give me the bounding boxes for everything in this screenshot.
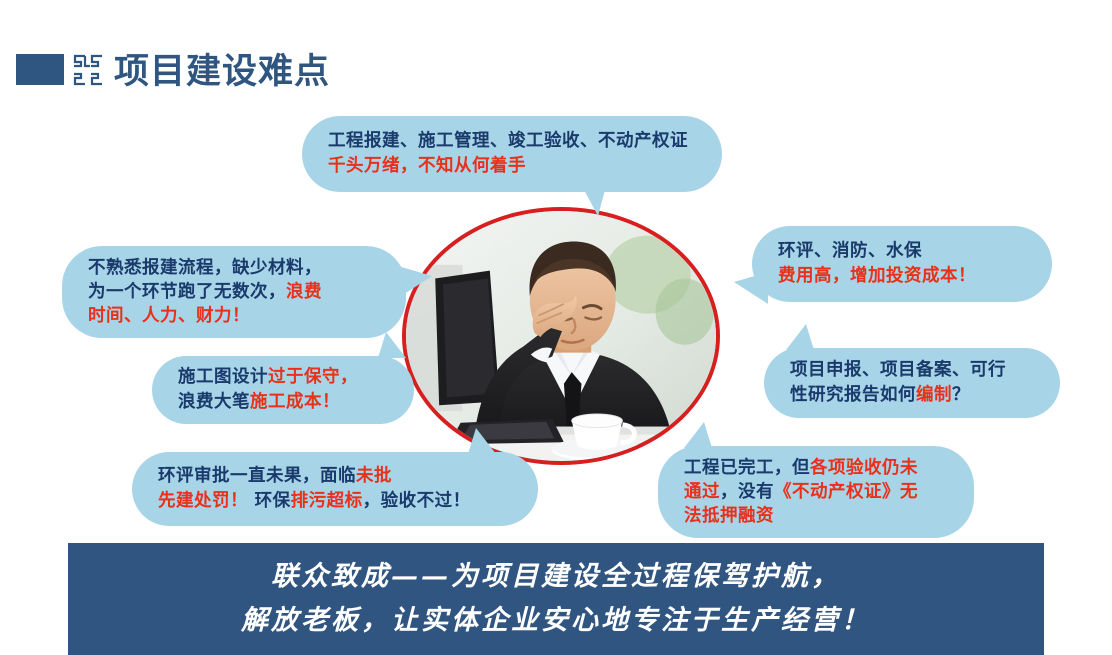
bubble-text-segment: 工程报建、施工管理、竣工验收、不动产权证 bbox=[328, 131, 688, 151]
bubble-text-line: 先建处罚！ 环保排污超标，验收不过！ bbox=[158, 489, 512, 514]
bubble-text-segment: 时间、人力、财力！ bbox=[88, 306, 250, 326]
bubble-text-segment: 编制 bbox=[916, 385, 952, 405]
bubble-text: 工程报建、施工管理、竣工验收、不动产权证千头万绪，不知从何着手 bbox=[302, 129, 722, 179]
speech-bubble-top: 工程报建、施工管理、竣工验收、不动产权证千头万绪，不知从何着手 bbox=[302, 116, 722, 192]
speech-bubble-lower-left: 环评审批一直未果，面临未批先建处罚！ 环保排污超标，验收不过！ bbox=[132, 452, 538, 526]
bubble-text-segment: ，验收不过！ bbox=[363, 491, 471, 511]
page-title: 项目建设难点 bbox=[114, 44, 330, 100]
bubble-text-line: 不熟悉报建流程，缺少材料， bbox=[88, 256, 380, 280]
speech-bubble-upper-right: 环评、消防、水保费用高，增加投资成本！ bbox=[752, 226, 1052, 302]
bubble-text: 环评审批一直未果，面临未批先建处罚！ 环保排污超标，验收不过！ bbox=[132, 464, 538, 514]
bubble-text-line: 通过，没有《不动产权证》无 bbox=[684, 480, 948, 504]
speech-bubble-mid-right: 项目申报、项目备案、可行性研究报告如何编制？ bbox=[764, 348, 1060, 418]
banner-line-1: 联众致成——为项目建设全过程保驾护航， bbox=[271, 555, 841, 599]
businessman-photo bbox=[402, 207, 720, 465]
bubble-text-segment: 千头万绪，不知从何着手 bbox=[328, 156, 526, 176]
speech-bubble-lower-right: 工程已完工，但各项验收仍未通过，没有《不动产权证》无法抵押融资 bbox=[658, 446, 974, 538]
bubble-text: 环评、消防、水保费用高，增加投资成本！ bbox=[752, 239, 1052, 289]
bubble-text-line: 环评审批一直未果，面临未批 bbox=[158, 464, 512, 489]
bubble-text-segment: 排污超标 bbox=[291, 491, 363, 511]
page-header: 项目建设难点 bbox=[0, 44, 1112, 100]
bubble-text-segment: 施工图设计 bbox=[178, 367, 268, 387]
bubble-text-line: 为一个环节跑了无数次，浪费 bbox=[88, 280, 380, 304]
bubble-text-segment: 工程已完工，但 bbox=[684, 458, 810, 478]
bubble-text-segment: 性研究报告如何 bbox=[790, 385, 916, 405]
bubble-tail-icon bbox=[398, 266, 432, 298]
chinese-meander-pattern-icon bbox=[70, 52, 106, 88]
bubble-text-segment: 不熟悉报建流程，缺少材料， bbox=[88, 258, 322, 278]
bubble-text-segment: 各项验收仍未 bbox=[810, 458, 918, 478]
bubble-text-segment: 过于保守， bbox=[268, 367, 358, 387]
bubble-text-segment: 施工成本！ bbox=[250, 392, 340, 412]
bubble-text-segment: 环保 bbox=[248, 491, 291, 511]
bubble-text-line: 工程报建、施工管理、竣工验收、不动产权证 bbox=[328, 129, 696, 154]
bubble-text-segment: 未批 bbox=[356, 466, 392, 486]
bubble-text: 工程已完工，但各项验收仍未通过，没有《不动产权证》无法抵押融资 bbox=[658, 456, 974, 528]
bubble-text-line: 工程已完工，但各项验收仍未 bbox=[684, 456, 948, 480]
bubble-tail-icon bbox=[468, 428, 496, 454]
bubble-text: 项目申报、项目备案、可行性研究报告如何编制？ bbox=[764, 358, 1060, 408]
bubble-text-segment: 浪费大笔 bbox=[178, 392, 250, 412]
bubble-text-segment: 为一个环节跑了无数次， bbox=[88, 282, 286, 302]
bubble-text-line: 浪费大笔施工成本！ bbox=[178, 390, 388, 415]
bubble-text-segment: 费用高，增加投资成本！ bbox=[778, 266, 976, 286]
bubble-tail-icon bbox=[378, 332, 406, 358]
bubble-tail-icon bbox=[786, 324, 814, 350]
bubble-text-segment: ，没有 bbox=[720, 482, 774, 502]
bubble-tail-icon bbox=[684, 422, 712, 448]
bottom-banner: 联众致成——为项目建设全过程保驾护航， 解放老板，让实体企业安心地专注于生产经营… bbox=[68, 543, 1044, 655]
bubble-text-line: 施工图设计过于保守， bbox=[178, 365, 388, 390]
bubble-text-line: 项目申报、项目备案、可行 bbox=[790, 358, 1034, 383]
header-accent-block bbox=[16, 54, 64, 85]
bubble-text-segment: 环评、消防、水保 bbox=[778, 241, 922, 261]
banner-line-2: 解放老板，让实体企业安心地专注于生产经营！ bbox=[241, 599, 871, 643]
bubble-text-segment: 法抵押融资 bbox=[684, 506, 774, 526]
bubble-text-segment: 浪费 bbox=[286, 282, 322, 302]
bubble-text-segment: 项目申报、项目备案、可行 bbox=[790, 360, 1006, 380]
bubble-text-segment: 环评审批一直未果，面临 bbox=[158, 466, 356, 486]
bubble-text-line: 性研究报告如何编制？ bbox=[790, 383, 1034, 408]
bubble-text-segment: ？ bbox=[952, 385, 970, 405]
speech-bubble-upper-left: 不熟悉报建流程，缺少材料，为一个环节跑了无数次，浪费时间、人力、财力！ bbox=[62, 246, 406, 338]
bubble-text-line: 千头万绪，不知从何着手 bbox=[328, 154, 696, 179]
speech-bubble-mid-left: 施工图设计过于保守，浪费大笔施工成本！ bbox=[152, 356, 414, 424]
bubble-text-segment: 《不动产权证》无 bbox=[774, 482, 918, 502]
bubble-text-line: 环评、消防、水保 bbox=[778, 239, 1026, 264]
bubble-text-segment: 先建处罚！ bbox=[158, 491, 248, 511]
bubble-tail-icon bbox=[582, 186, 606, 216]
bubble-text-line: 时间、人力、财力！ bbox=[88, 304, 380, 328]
bubble-text-line: 费用高，增加投资成本！ bbox=[778, 264, 1026, 289]
slide-root: 项目建设难点 bbox=[0, 0, 1112, 655]
bubble-text-segment: 通过 bbox=[684, 482, 720, 502]
bubble-text-line: 法抵押融资 bbox=[684, 504, 948, 528]
bubble-text: 不熟悉报建流程，缺少材料，为一个环节跑了无数次，浪费时间、人力、财力！ bbox=[62, 256, 406, 328]
bubble-text: 施工图设计过于保守，浪费大笔施工成本！ bbox=[152, 365, 414, 415]
bubble-tail-icon bbox=[734, 272, 768, 304]
